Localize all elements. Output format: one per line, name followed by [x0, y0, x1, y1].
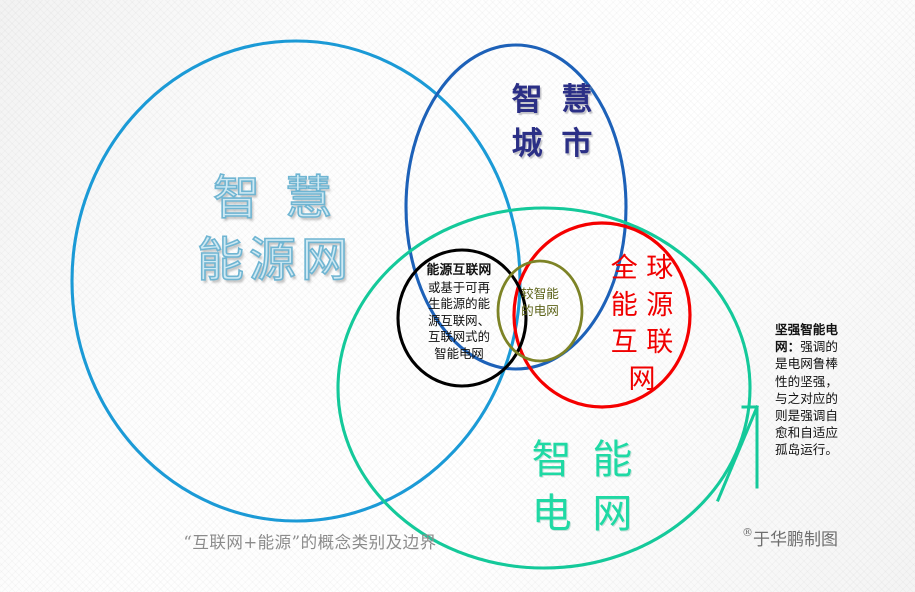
label-energy-internet-heading: 能源互联网 [427, 263, 492, 278]
label-global-energy-internet-line3: 互 联 [596, 324, 688, 361]
label-more-intelligent-grid-line1: 较智能 [504, 285, 576, 302]
label-smart-energy-network: 智 慧 能源网 [140, 168, 410, 292]
diagram-canvas: 智 慧 能源网 智 慧 城 市 全 球 能 源 互 联 网 智 能 电 网 能源… [0, 0, 915, 592]
label-global-energy-internet-line4: 网 [596, 361, 688, 398]
label-global-energy-internet-line2: 能 源 [596, 287, 688, 324]
label-smart-energy-network-line1: 智 慧 [140, 168, 410, 230]
label-global-energy-internet-line1: 全 球 [596, 250, 688, 287]
author-signature: ®于华鹏制图 [742, 525, 838, 550]
annotation-strong-smart-grid: 坚强智能电网：强调的是电网鲁棒性的坚强，与之对应的则是强调自愈和自适应孤岛运行。 [775, 321, 849, 459]
label-global-energy-internet: 全 球 能 源 互 联 网 [596, 250, 688, 398]
label-smart-city-line2: 城 市 [480, 122, 628, 166]
label-more-intelligent-grid: 较智能 的电网 [504, 285, 576, 319]
label-smart-grid: 智 能 电 网 [525, 433, 643, 541]
registered-trademark-icon: ® [742, 526, 753, 539]
annotation-rest-text: 强调的是电网鲁棒性的坚强，与之对应的则是强调自愈和自适应孤岛运行。 [775, 339, 838, 457]
label-smart-grid-line1: 智 能 [525, 433, 643, 487]
label-energy-internet-body-line2: 生能源的能 [398, 296, 520, 313]
diagram-caption: “互联网+能源”的概念类别及边界 [150, 529, 470, 553]
label-energy-internet-body-line4: 互联网式的 [398, 329, 520, 346]
label-more-intelligent-grid-line2: 的电网 [504, 302, 576, 319]
label-energy-internet-body-line1: 或基于可再 [398, 280, 520, 297]
label-smart-city-line1: 智 慧 [480, 78, 628, 122]
label-smart-energy-network-line2: 能源网 [140, 230, 410, 292]
label-energy-internet-body-line3: 源互联网、 [398, 313, 520, 330]
label-energy-internet: 能源互联网 或基于可再 生能源的能 源互联网、 互联网式的 智能电网 [398, 262, 520, 362]
label-smart-grid-line2: 电 网 [525, 487, 643, 541]
label-energy-internet-body-line5: 智能电网 [398, 346, 520, 363]
label-smart-city: 智 慧 城 市 [480, 78, 628, 166]
author-signature-text: 于华鹏制图 [753, 530, 838, 550]
annotation-bracket [718, 407, 757, 500]
